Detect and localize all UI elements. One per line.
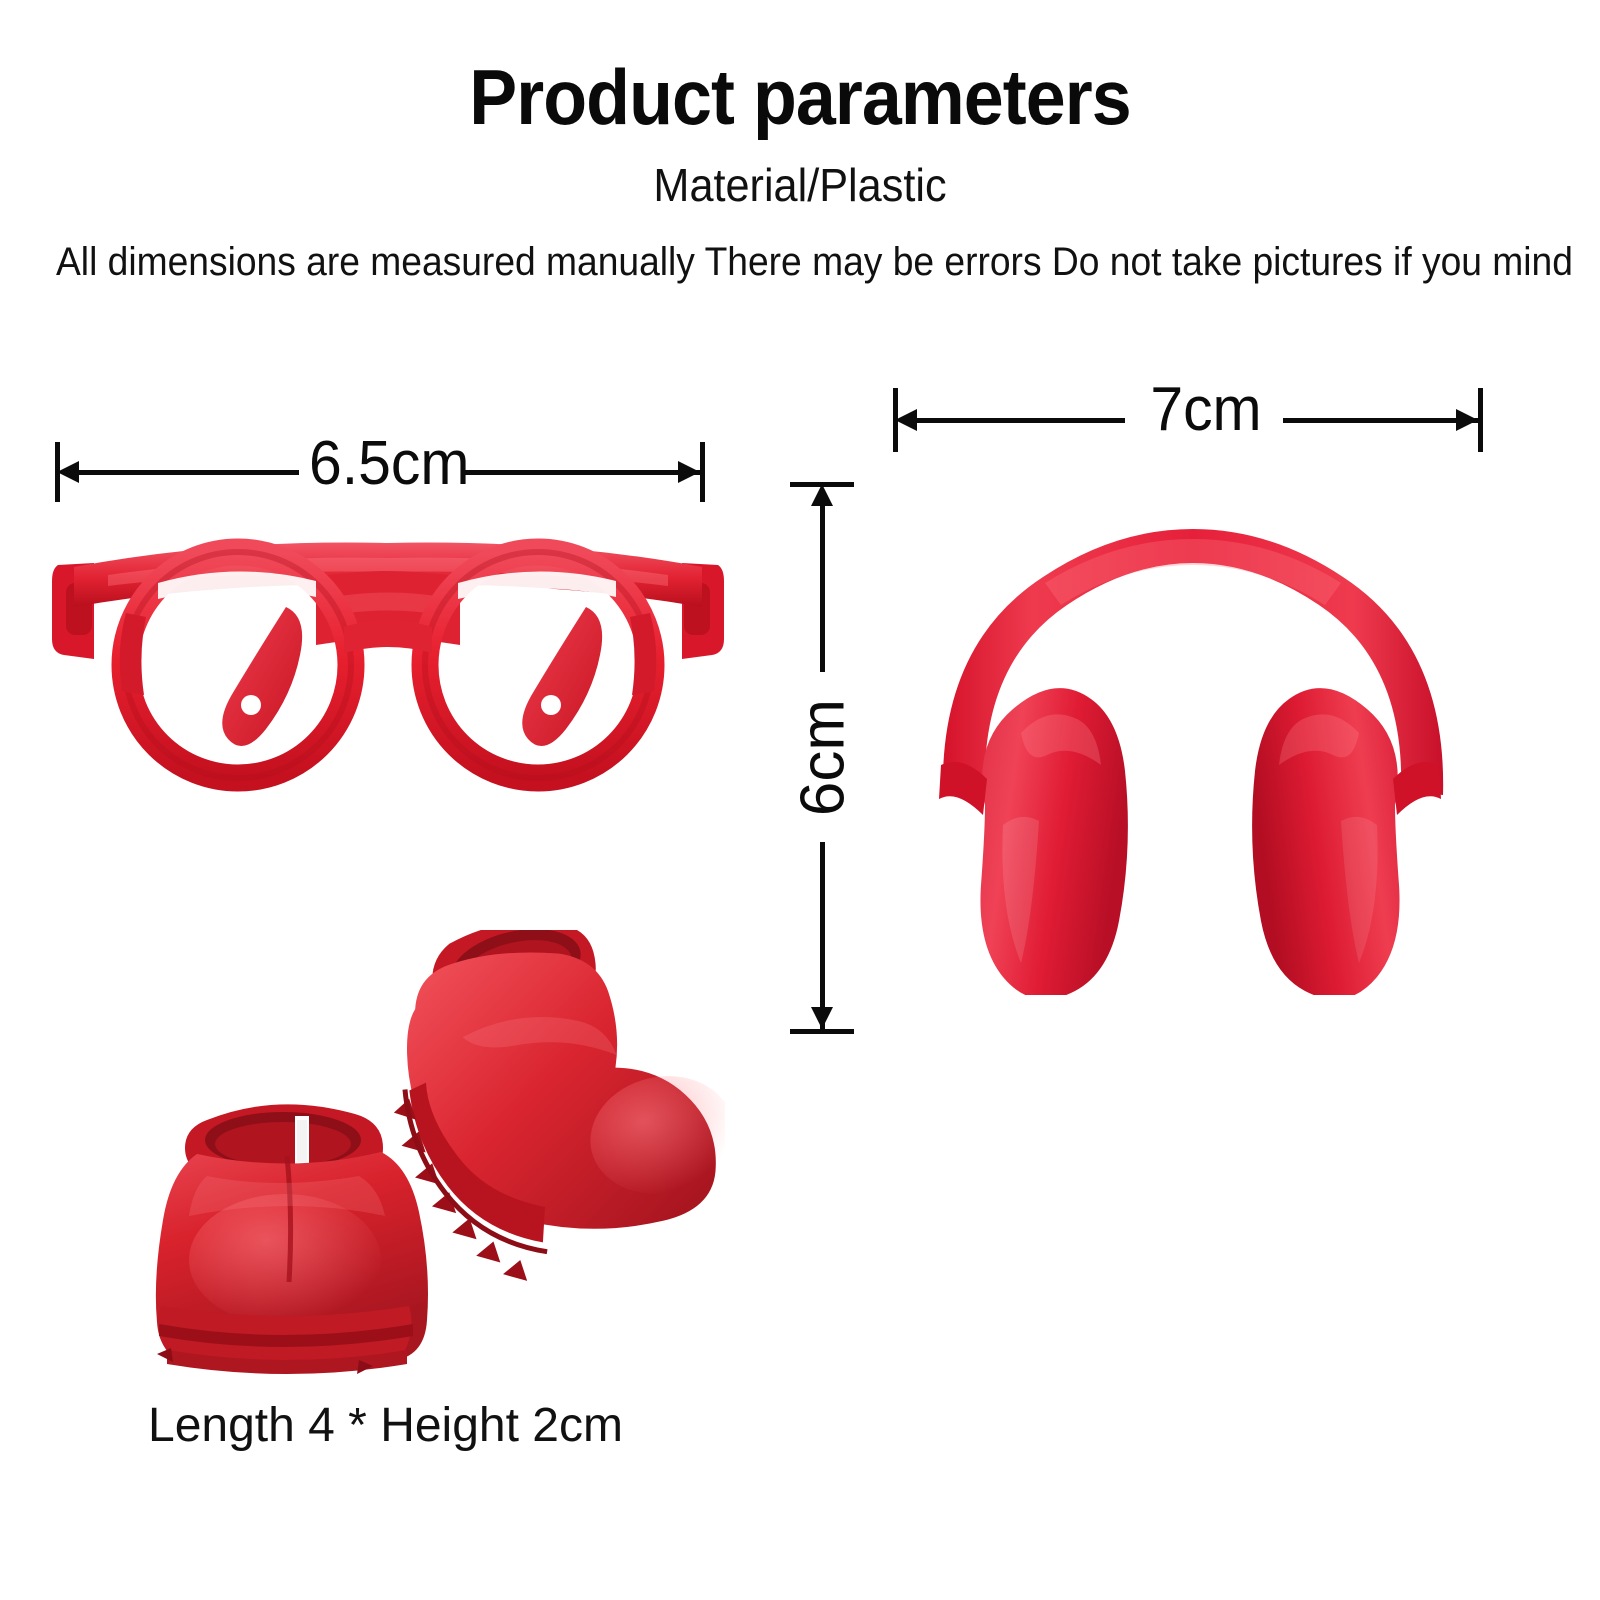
headphones-width-dimension: 7cm [893, 388, 1483, 452]
product-parameters-page: Product parameters Material/Plastic All … [0, 0, 1600, 1600]
headphones-height-label: 6cm [788, 688, 859, 828]
dimension-arrow-right-icon [678, 461, 700, 483]
dimension-cap-right [1478, 388, 1483, 452]
dimension-cap-right [700, 442, 705, 502]
dimension-bar-right [465, 470, 700, 475]
dimension-bar-right [1283, 418, 1478, 423]
dimension-bar-left [77, 470, 299, 475]
dimension-cap-bottom [790, 1029, 854, 1034]
measurement-disclaimer: All dimensions are measured manually The… [56, 240, 1544, 285]
page-title: Product parameters [64, 52, 1536, 143]
glasses-product-image [48, 505, 728, 795]
dimension-arrow-right-icon [1456, 409, 1478, 431]
glasses-width-label: 6.5cm [309, 428, 461, 499]
glasses-width-dimension: 6.5cm [55, 442, 705, 502]
shoes-caption: Length 4 * Height 2cm [148, 1398, 623, 1453]
dimension-arrow-left-icon [57, 461, 79, 483]
dimension-arrow-left-icon [895, 409, 917, 431]
material-subtitle: Material/Plastic [48, 158, 1552, 212]
dimension-bar-left [915, 418, 1125, 423]
headphones-product-image [885, 465, 1495, 995]
headphones-width-label: 7cm [1135, 374, 1278, 445]
dimension-arrow-up-icon [811, 484, 833, 506]
shoes-product-image [145, 930, 725, 1380]
dimension-bar-bottom [820, 842, 825, 1029]
headphones-height-dimension: 6cm [790, 482, 854, 1034]
dimension-arrow-down-icon [811, 1007, 833, 1029]
dimension-bar-top [820, 504, 825, 672]
